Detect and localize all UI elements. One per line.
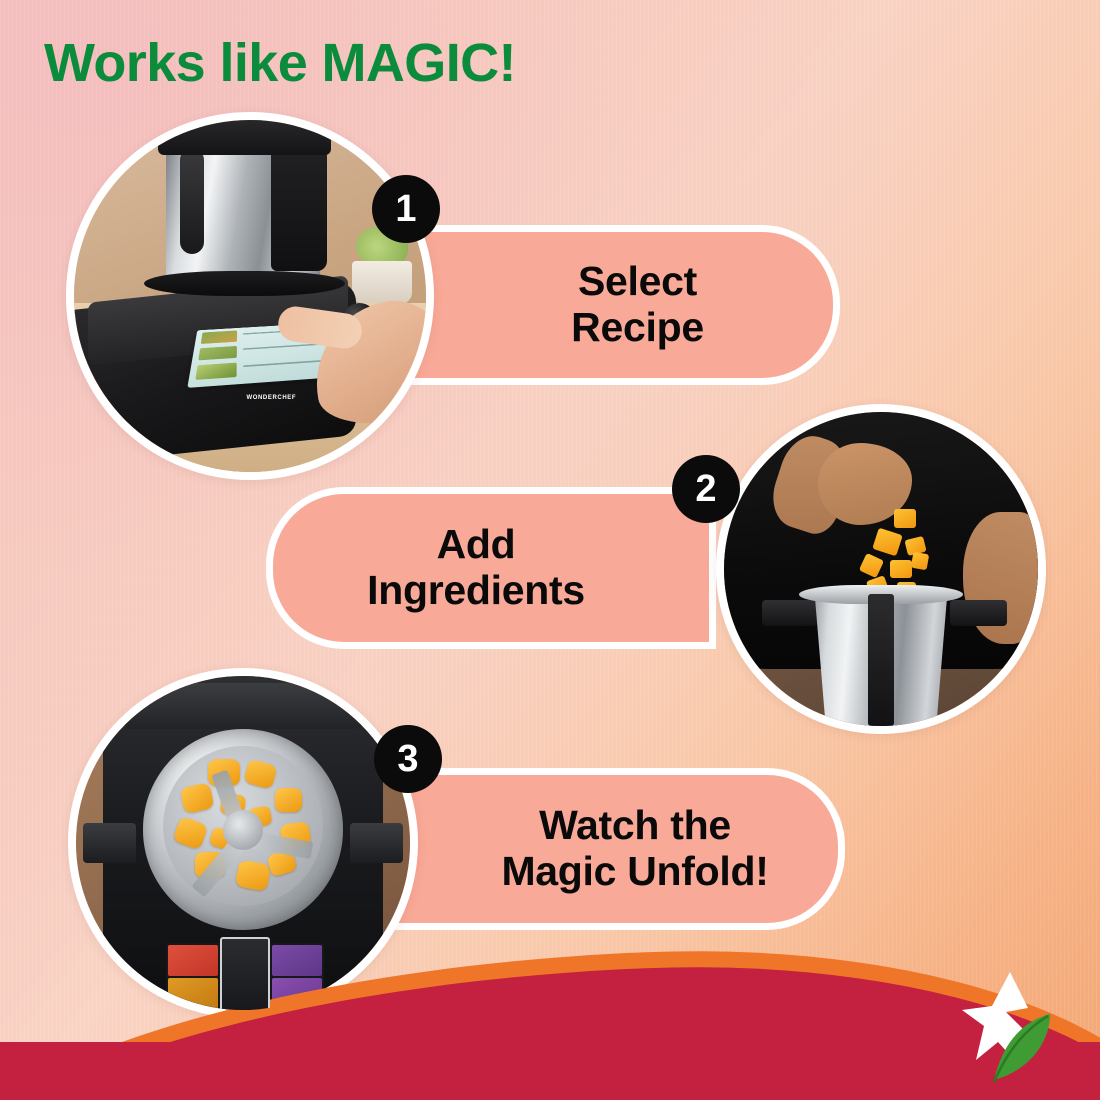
blender-blade: [223, 810, 263, 850]
step-3-label-line1: Watch the: [501, 803, 768, 849]
jar-front-spine: [868, 594, 893, 726]
step-1-label-line2: Recipe: [571, 305, 704, 351]
step-2-number-badge: 2: [672, 455, 740, 523]
step-1-scene: WONDERCHEF: [74, 120, 426, 472]
jar-side-handle: [180, 148, 205, 254]
step-3-label-line2: Magic Unfold!: [501, 849, 768, 895]
step-2-label-text: Add Ingredients: [367, 522, 585, 614]
device-brand-text: WONDERCHEF: [246, 395, 296, 401]
page-title: Works like MAGIC!: [44, 32, 516, 94]
jar-handle-left: [83, 823, 136, 863]
bottom-band: [0, 915, 1100, 1100]
step-3-number-badge: 3: [374, 725, 442, 793]
panel-center-display: [220, 937, 271, 1014]
step-2-label-line1: Add: [367, 522, 585, 568]
step-1-label-text: Select Recipe: [571, 259, 704, 351]
step-1-label-line1: Select: [571, 259, 704, 305]
jar-collar: [144, 271, 345, 296]
step-1-number-badge: 1: [372, 175, 440, 243]
jar-handle-right: [350, 823, 403, 863]
bottom-band-base: [0, 1042, 1100, 1100]
jar-lid: [158, 116, 330, 155]
appliance-top-bar: [123, 683, 363, 730]
jar-handle-right: [950, 600, 1007, 625]
step-3-label-text: Watch the Magic Unfold!: [501, 803, 768, 895]
step-2-label-card: Add Ingredients: [266, 487, 716, 649]
step-3-label-card: Watch the Magic Unfold!: [390, 768, 845, 930]
poster-canvas: Works like MAGIC! Select Recipe: [0, 0, 1100, 1100]
photo-appliance-touchscreen: WONDERCHEF: [66, 112, 434, 480]
step-1-label-card: Select Recipe: [395, 225, 840, 385]
step-2-scene: [724, 412, 1038, 726]
jar-handle-left: [762, 600, 819, 625]
wonderchef-star-leaf-logo: [958, 968, 1066, 1086]
step-2-label-line2: Ingredients: [367, 568, 585, 614]
potted-plant-pot: [352, 261, 412, 303]
photo-adding-mango-cubes: [716, 404, 1046, 734]
